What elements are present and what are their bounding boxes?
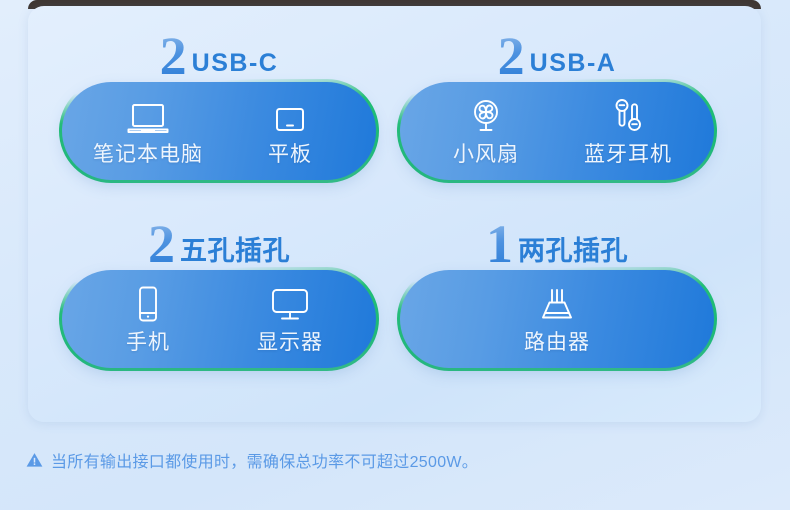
section-heading-usb-c: 2 USB-C — [42, 20, 396, 82]
section-five-hole-socket: 2 五孔插孔 手机 — [42, 208, 396, 394]
port-count: 2 — [148, 220, 174, 268]
device-item-fan[interactable]: 小风扇 — [432, 95, 540, 168]
phone-icon — [135, 283, 161, 323]
devices-pill-usb-a[interactable]: 小风扇 — [380, 82, 734, 180]
laptop-icon — [126, 95, 170, 135]
port-type-label: USB-C — [192, 46, 279, 80]
port-count: 2 — [498, 32, 524, 80]
device-label: 平板 — [268, 138, 312, 168]
device-label: 蓝牙耳机 — [584, 138, 672, 168]
section-heading-five-hole: 2 五孔插孔 — [42, 208, 396, 270]
device-item-monitor[interactable]: 显示器 — [236, 283, 344, 356]
device-label: 笔记本电脑 — [93, 138, 203, 168]
section-usb-c: 2 USB-C 笔记 — [42, 20, 396, 206]
earbuds-icon — [610, 95, 646, 135]
port-count: 1 — [486, 220, 512, 268]
port-type-label: USB-A — [530, 46, 617, 80]
device-label: 手机 — [126, 326, 170, 356]
devices-pill-five-hole[interactable]: 手机 显示器 — [42, 270, 396, 368]
router-icon — [535, 283, 579, 323]
devices-pill-two-hole[interactable]: 路由器 — [380, 270, 734, 368]
warning-triangle-icon — [26, 452, 43, 468]
sections-grid: 2 USB-C 笔记 — [28, 6, 761, 422]
device-item-phone[interactable]: 手机 — [94, 283, 202, 356]
device-label: 显示器 — [257, 326, 323, 356]
footer-note: 当所有输出接口都使用时，需确保总功率不可超过2500W。 — [26, 448, 478, 472]
footer-warning-text: 当所有输出接口都使用时，需确保总功率不可超过2500W。 — [51, 448, 478, 472]
device-label: 路由器 — [524, 326, 590, 356]
port-type-label: 五孔插孔 — [180, 234, 290, 268]
port-count: 2 — [160, 32, 186, 80]
fan-icon — [467, 95, 505, 135]
devices-pill-usb-c[interactable]: 笔记本电脑 平板 — [42, 82, 396, 180]
device-item-router[interactable]: 路由器 — [487, 283, 627, 356]
port-type-label: 两孔插孔 — [518, 234, 628, 268]
device-item-earbuds[interactable]: 蓝牙耳机 — [574, 95, 682, 168]
monitor-icon — [269, 283, 311, 323]
section-heading-usb-a: 2 USB-A — [380, 20, 734, 82]
section-two-hole-socket: 1 两孔插孔 — [380, 208, 734, 394]
device-item-tablet[interactable]: 平板 — [236, 95, 344, 168]
device-item-laptop[interactable]: 笔记本电脑 — [94, 95, 202, 168]
section-usb-a: 2 USB-A — [380, 20, 734, 206]
ports-overview-card: 2 USB-C 笔记 — [28, 6, 761, 422]
tablet-icon — [271, 95, 309, 135]
device-label: 小风扇 — [453, 138, 519, 168]
section-heading-two-hole: 1 两孔插孔 — [380, 208, 734, 270]
